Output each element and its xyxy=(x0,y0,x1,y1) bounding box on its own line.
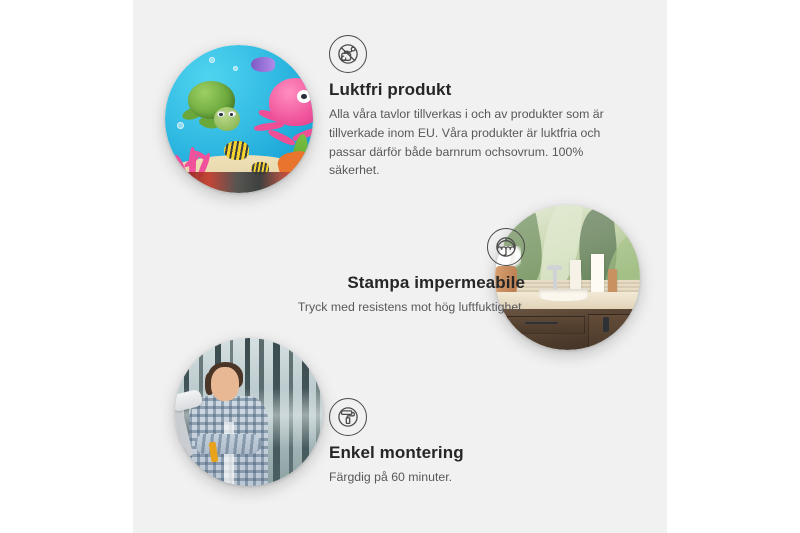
toiletry-bottle xyxy=(591,254,604,295)
banner-canvas: Luktfri produkt Alla våra tavlor tillver… xyxy=(133,0,667,533)
underwater-kids-mural-photo xyxy=(165,45,313,193)
icon-row xyxy=(329,398,629,436)
yellow-fish xyxy=(224,141,249,160)
installer-person xyxy=(184,365,276,486)
sink-basin xyxy=(539,289,588,301)
icon-row xyxy=(329,35,629,73)
installer-forest-wallpaper-photo xyxy=(175,338,323,486)
photo-bottom-strip xyxy=(186,172,313,193)
product-feature-banner: Luktfri produkt Alla våra tavlor tillver… xyxy=(0,0,800,533)
toiletry-bottle xyxy=(570,260,580,292)
feature-waterproof: Stampa impermeabile Tryck med resistens … xyxy=(193,228,525,317)
feature-title: Enkel montering xyxy=(329,443,629,463)
feature-description: Alla våra tavlor tillverkas i och av pro… xyxy=(329,105,629,180)
feature-description: Tryck med resistens mot hög luftfuktighe… xyxy=(193,298,525,316)
no-fragrance-icon xyxy=(329,35,367,73)
paint-roller-icon xyxy=(329,398,367,436)
feature-easy-install: Enkel montering Färgdig på 60 minuter. xyxy=(329,398,629,487)
umbrella-icon xyxy=(487,228,525,266)
toiletry-bottle xyxy=(608,269,617,295)
feature-title: Stampa impermeabile xyxy=(193,273,525,293)
feature-odourless: Luktfri produkt Alla våra tavlor tillver… xyxy=(329,35,629,180)
door-handle xyxy=(603,317,608,332)
sea-turtle xyxy=(184,81,249,134)
feature-description: Färgdig på 60 minuter. xyxy=(329,468,629,486)
bubble-icon xyxy=(233,66,238,71)
drawer-handle xyxy=(525,322,558,324)
purple-fish xyxy=(251,57,275,72)
feature-title: Luktfri produkt xyxy=(329,80,629,100)
icon-row xyxy=(193,228,525,266)
